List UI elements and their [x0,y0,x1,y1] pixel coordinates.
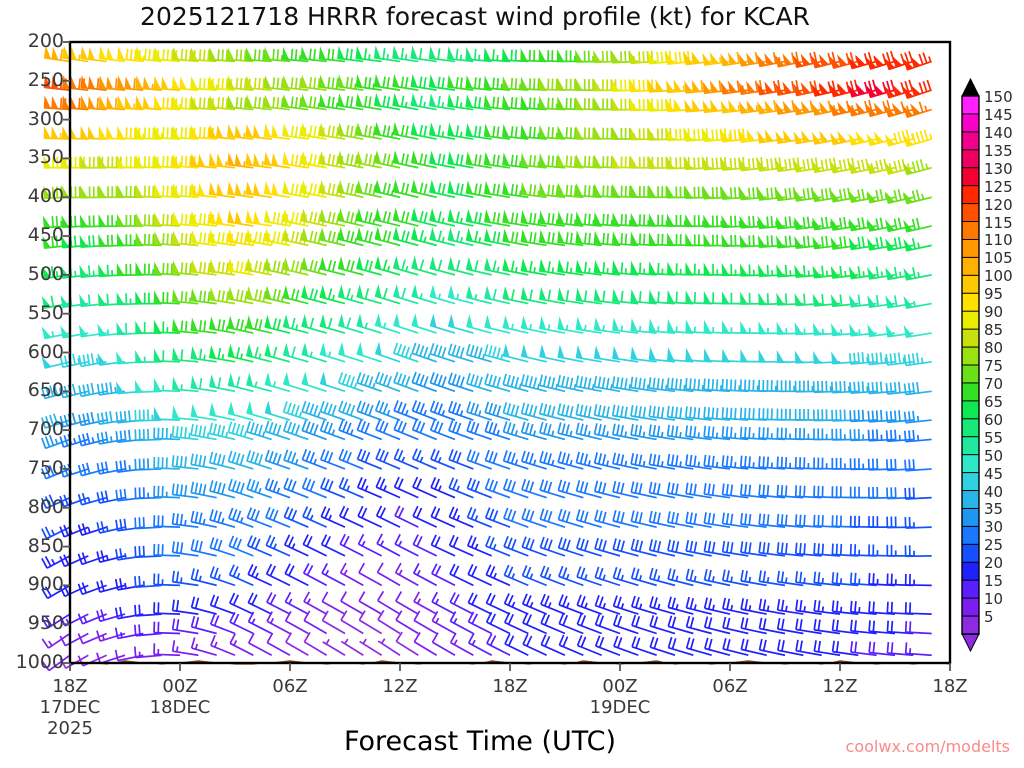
colorbar-tick-label: 20 [984,554,1003,572]
colorbar-tick-label: 70 [984,375,1003,393]
colorbar-tick-label: 10 [984,590,1003,608]
wind-profile-chart: 2025121718 HRRR forecast wind profile (k… [0,0,1024,768]
colorbar-tick-label: 40 [984,483,1003,501]
x-tick-line1: 12Z [382,676,417,697]
colorbar-tick-label: 120 [984,196,1013,214]
y-tick-label: 850 [8,535,64,557]
y-tick-label: 950 [8,612,64,634]
colorbar-tick-label: 130 [984,160,1013,178]
x-tick-label: 12Z [345,676,455,697]
plot-canvas [0,0,1024,768]
x-tick-line1: 18Z [492,676,527,697]
colorbar-tick-label: 95 [984,285,1003,303]
colorbar-tick-label: 135 [984,142,1013,160]
y-tick-label: 350 [8,146,64,168]
y-tick-label: 250 [8,69,64,91]
y-tick-label: 600 [8,341,64,363]
y-tick-label: 900 [8,573,64,595]
x-tick-line1: 00Z [602,676,637,697]
x-tick-line1: 06Z [712,676,747,697]
x-tick-label: 18Z [895,676,1005,697]
x-tick-line2: 17DEC [15,697,125,718]
x-tick-line1: 00Z [162,676,197,697]
colorbar-tick-label: 110 [984,231,1013,249]
x-tick-line2: 19DEC [565,697,675,718]
colorbar-tick-label: 140 [984,124,1013,142]
y-tick-label: 1000 [0,651,64,673]
colorbar-tick-label: 75 [984,357,1003,375]
y-tick-label: 800 [8,496,64,518]
x-axis-title: Forecast Time (UTC) [170,726,790,757]
y-tick-label: 500 [8,263,64,285]
colorbar-tick-label: 55 [984,429,1003,447]
y-tick-label: 700 [8,418,64,440]
x-tick-label: 06Z [675,676,785,697]
y-tick-label: 450 [8,224,64,246]
colorbar-tick-label: 85 [984,321,1003,339]
colorbar-tick-label: 45 [984,465,1003,483]
x-tick-label: 00Z19DEC [565,676,675,718]
x-tick-line1: 18Z [52,676,87,697]
colorbar-tick-label: 25 [984,536,1003,554]
x-tick-label: 06Z [235,676,345,697]
colorbar-tick-label: 105 [984,249,1013,267]
colorbar-tick-label: 100 [984,267,1013,285]
colorbar-tick-label: 5 [984,608,994,626]
colorbar-tick-label: 50 [984,447,1003,465]
colorbar-tick-label: 115 [984,214,1013,232]
x-tick-line3: 2025 [15,718,125,739]
colorbar-tick-label: 35 [984,500,1003,518]
colorbar-tick-label: 60 [984,411,1003,429]
x-tick-line1: 12Z [822,676,857,697]
y-tick-label: 550 [8,302,64,324]
x-tick-line1: 18Z [932,676,967,697]
colorbar-tick-label: 30 [984,518,1003,536]
x-tick-label: 00Z18DEC [125,676,235,718]
colorbar [962,79,979,651]
x-tick-label: 12Z [785,676,895,697]
colorbar-tick-label: 145 [984,106,1013,124]
y-tick-label: 200 [8,30,64,52]
x-tick-line1: 06Z [272,676,307,697]
y-tick-label: 750 [8,457,64,479]
colorbar-tick-label: 150 [984,88,1013,106]
y-tick-label: 400 [8,185,64,207]
y-tick-label: 650 [8,379,64,401]
colorbar-tick-label: 65 [984,393,1003,411]
x-tick-label: 18Z17DEC2025 [15,676,125,739]
colorbar-tick-label: 125 [984,178,1013,196]
colorbar-tick-label: 90 [984,303,1003,321]
colorbar-tick-label: 80 [984,339,1003,357]
y-tick-label: 300 [8,108,64,130]
x-tick-label: 18Z [455,676,565,697]
wind-barb-field [42,47,932,671]
x-tick-line2: 18DEC [125,697,235,718]
colorbar-tick-label: 15 [984,572,1003,590]
credit-label: coolwx.com/modelts [846,737,1010,756]
